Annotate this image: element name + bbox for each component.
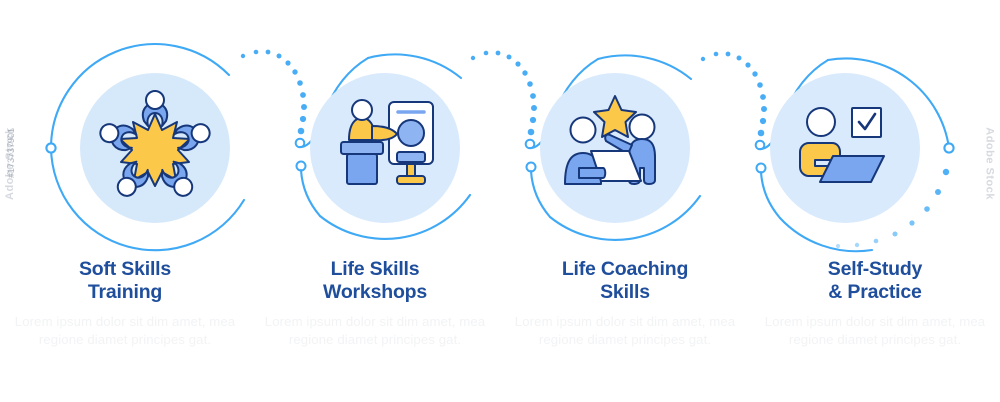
node1-start-endpoint: [46, 143, 55, 152]
step-2-description: Lorem ipsum dolor sit dim amet, mea regi…: [264, 313, 486, 348]
node4-end-endpoint: [944, 143, 953, 152]
step-2-label[interactable]: Life Skills Workshops Lorem ipsum dolor …: [250, 258, 500, 378]
step-3-title: Life Coaching Skills: [514, 258, 736, 304]
step-1-title: Soft Skills Training: [14, 258, 236, 304]
step-label-row: Soft Skills Training Lorem ipsum dolor s…: [0, 258, 1000, 378]
dotted-connector-1: [241, 50, 307, 171]
dotted-connector-3: [701, 52, 767, 173]
node-circles: [80, 73, 920, 223]
step-1-description: Lorem ipsum dolor sit dim amet, mea regi…: [14, 313, 236, 348]
node2-circle[interactable]: [310, 73, 460, 223]
step-4-title: Self-Study & Practice: [764, 258, 986, 304]
step-4-description: Lorem ipsum dolor sit dim amet, mea regi…: [764, 313, 986, 348]
step-2-title: Life Skills Workshops: [264, 258, 486, 304]
step-1-label[interactable]: Soft Skills Training Lorem ipsum dolor s…: [0, 258, 250, 378]
node4-circle[interactable]: [770, 73, 920, 223]
step-3-description: Lorem ipsum dolor sit dim amet, mea regi…: [514, 313, 736, 348]
step-3-label[interactable]: Life Coaching Skills Lorem ipsum dolor s…: [500, 258, 750, 378]
dotted-connector-2: [471, 51, 537, 172]
infographic-stage: Soft Skills Training Lorem ipsum dolor s…: [0, 0, 1000, 402]
step-4-label[interactable]: Self-Study & Practice Lorem ipsum dolor …: [750, 258, 1000, 378]
